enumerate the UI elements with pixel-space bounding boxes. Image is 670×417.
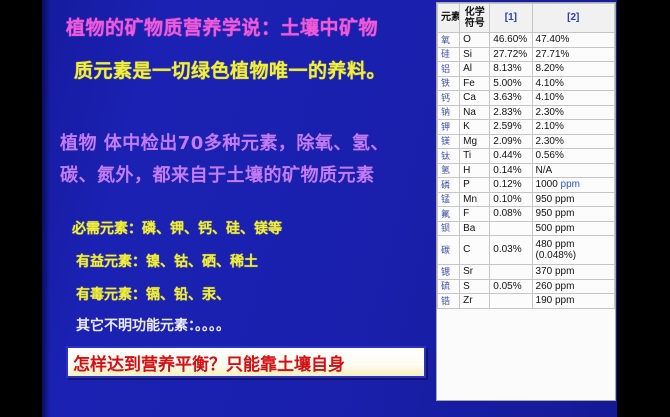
table-row[interactable]: 锰Mn0.10%950 ppm [438, 192, 615, 207]
column-header-symbol-line2: 符号 [465, 18, 485, 29]
cell-chemical-symbol: Fe [460, 76, 490, 91]
cell-value-ref2: 4.10% [532, 76, 614, 91]
cell-element-name: 锰 [438, 192, 460, 207]
cell-value-ref1: 46.60% [490, 33, 532, 48]
bullet-toxic-elements: 有毒元素：镉、铅、汞、 [76, 288, 230, 302]
cell-element-name: 锆 [438, 294, 460, 309]
bullet-unknown-function-elements: 其它不明功能元素：。。。。 [76, 319, 230, 333]
cell-value-ref1: 0.44% [490, 149, 532, 164]
cell-chemical-symbol: S [460, 279, 490, 294]
column-header-reference-1[interactable]: [1] [490, 4, 532, 33]
cell-value-ref2: 27.71% [532, 47, 614, 62]
element-composition-table-panel: 元素 化学 符号 [1] [2] 氧O46.60%47.40%硅Si27.72%… [436, 2, 616, 401]
table-row[interactable]: 锆Zr190 ppm [438, 294, 615, 309]
cell-value-ref2: 370 ppm [532, 265, 614, 280]
highlight-banner-text: 怎样达到营养平衡？只能靠土壤自身 [68, 350, 345, 375]
cell-chemical-symbol: Ba [460, 221, 490, 236]
cell-value-ref1: 0.10% [490, 192, 532, 207]
table-row[interactable]: 氟F0.08%950 ppm [438, 207, 615, 222]
cell-chemical-symbol: Mg [460, 134, 490, 149]
cell-value-ref1: 0.14% [490, 163, 532, 178]
cell-element-name: 铝 [438, 62, 460, 77]
cell-element-name: 锶 [438, 265, 460, 280]
cell-chemical-symbol: Ca [460, 91, 490, 106]
table-row[interactable]: 磷P0.12%1000 ppm [438, 178, 615, 193]
table-header: 元素 化学 符号 [1] [2] [438, 4, 615, 33]
cell-element-name: 镁 [438, 134, 460, 149]
cell-value-ref1: 2.83% [490, 105, 532, 120]
cell-value-ref2: 8.20% [532, 62, 614, 77]
cell-chemical-symbol: F [460, 207, 490, 222]
cell-value-ref1 [490, 221, 532, 236]
cell-value-ref1: 0.05% [490, 279, 532, 294]
bullet-beneficial-elements: 有益元素：镍、钴、硒、稀土 [76, 255, 258, 269]
cell-element-name: 硅 [438, 47, 460, 62]
cell-chemical-symbol: Zr [460, 294, 490, 309]
table-row[interactable]: 氢H0.14%N/A [438, 163, 615, 178]
cell-element-name: 磷 [438, 178, 460, 193]
cell-element-name: 氟 [438, 207, 460, 222]
cell-element-name: 钾 [438, 120, 460, 135]
cell-element-name: 钛 [438, 149, 460, 164]
cell-chemical-symbol: K [460, 120, 490, 135]
table-body: 氧O46.60%47.40%硅Si27.72%27.71%铝Al8.13%8.2… [438, 33, 615, 309]
cell-value-ref2: 0.56% [532, 149, 614, 164]
cell-element-name: 碳 [438, 236, 460, 265]
cell-element-name: 铁 [438, 76, 460, 91]
element-composition-table: 元素 化学 符号 [1] [2] 氧O46.60%47.40%硅Si27.72%… [437, 3, 615, 309]
cell-value-ref1 [490, 294, 532, 309]
column-header-chemical-symbol: 化学 符号 [460, 4, 490, 33]
cell-value-ref1: 0.08% [490, 207, 532, 222]
cell-value-ref1: 2.59% [490, 120, 532, 135]
table-row[interactable]: 硅Si27.72%27.71% [438, 47, 615, 62]
cell-element-name: 钠 [438, 105, 460, 120]
ppm-unit-link[interactable]: ppm [561, 179, 580, 190]
cell-value-ref2: 1000 ppm [532, 178, 614, 193]
cell-value-ref2: 500 ppm [532, 221, 614, 236]
cell-element-name: 硫 [438, 279, 460, 294]
column-header-reference-2[interactable]: [2] [532, 4, 614, 33]
table-row[interactable]: 钡Ba500 ppm [438, 221, 615, 236]
table-row[interactable]: 镁Mg2.09%2.30% [438, 134, 615, 149]
cell-element-name: 氧 [438, 33, 460, 48]
table-row[interactable]: 硫S0.05%260 ppm [438, 279, 615, 294]
slide-text-column: 植物的矿物质营养学说：土壤中矿物 质元素是一切绿色植物唯一的养料。 植物 体中检… [52, 0, 440, 417]
cell-value-ref2: 4.10% [532, 91, 614, 106]
cell-value-ref2: 260 ppm [532, 279, 614, 294]
highlight-banner: 怎样达到营养平衡？只能靠土壤自身 [66, 346, 426, 378]
cell-chemical-symbol: P [460, 178, 490, 193]
table-row[interactable]: 钠Na2.83%2.30% [438, 105, 615, 120]
column-header-element: 元素 [438, 4, 460, 33]
table-row[interactable]: 铝Al8.13%8.20% [438, 62, 615, 77]
cell-chemical-symbol: O [460, 33, 490, 48]
table-row[interactable]: 氧O46.60%47.40% [438, 33, 615, 48]
cell-value-ref2: 480 ppm(0.048%) [532, 236, 614, 265]
cell-value-ref1: 0.12% [490, 178, 532, 193]
slide-screenshot: 植物的矿物质营养学说：土壤中矿物 质元素是一切绿色植物唯一的养料。 植物 体中检… [0, 0, 670, 417]
cell-chemical-symbol: Si [460, 47, 490, 62]
cell-value-ref1: 0.03% [490, 236, 532, 265]
cell-element-name: 钡 [438, 221, 460, 236]
cell-chemical-symbol: Na [460, 105, 490, 120]
cell-value-ref1: 3.63% [490, 91, 532, 106]
slide-title-line-2: 质元素是一切绿色植物唯一的养料。 [74, 62, 386, 81]
table-row[interactable]: 钙Ca3.63%4.10% [438, 91, 615, 106]
cell-chemical-symbol: Sr [460, 265, 490, 280]
cell-chemical-symbol: H [460, 163, 490, 178]
cell-value-ref2: N/A [532, 163, 614, 178]
cell-value-ref2: 950 ppm [532, 207, 614, 222]
slide-paragraph-line-2: 碳、氮外，都来自于土壤的矿物质元素 [60, 167, 375, 185]
slide-title-line-1: 植物的矿物质营养学说：土壤中矿物 [66, 19, 378, 38]
table-row[interactable]: 锶Sr370 ppm [438, 265, 615, 280]
table-header-row: 元素 化学 符号 [1] [2] [438, 4, 615, 33]
cell-element-name: 氢 [438, 163, 460, 178]
table-row[interactable]: 钾K2.59%2.10% [438, 120, 615, 135]
bullet-essential-elements: 必需元素：磷、钾、钙、硅、镁等 [72, 222, 282, 236]
cell-value-ref2: 2.30% [532, 105, 614, 120]
cell-value-ref2: 2.30% [532, 134, 614, 149]
table-row[interactable]: 钛Ti0.44%0.56% [438, 149, 615, 164]
cell-value-ref2: 190 ppm [532, 294, 614, 309]
column-header-symbol-line1: 化学 [465, 7, 485, 18]
cell-chemical-symbol: C [460, 236, 490, 265]
cell-value-ref2: 2.10% [532, 120, 614, 135]
cell-chemical-symbol: Mn [460, 192, 490, 207]
cell-value-ref1 [490, 265, 532, 280]
cell-value-ref1: 2.09% [490, 134, 532, 149]
cell-chemical-symbol: Al [460, 62, 490, 77]
table-row[interactable]: 铁Fe5.00%4.10% [438, 76, 615, 91]
cell-chemical-symbol: Ti [460, 149, 490, 164]
cell-value-ref2: 47.40% [532, 33, 614, 48]
cell-value-ref2: 950 ppm [532, 192, 614, 207]
cell-value-ref1: 27.72% [490, 47, 532, 62]
cell-value-ref1: 5.00% [490, 76, 532, 91]
table-row[interactable]: 碳C0.03%480 ppm(0.048%) [438, 236, 615, 265]
cell-value-ref1: 8.13% [490, 62, 532, 77]
letterbox-right-black-bar [617, 0, 670, 417]
slide-paragraph-line-1: 植物 体中检出70多种元素，除氧、氢、 [60, 135, 389, 153]
cell-element-name: 钙 [438, 91, 460, 106]
